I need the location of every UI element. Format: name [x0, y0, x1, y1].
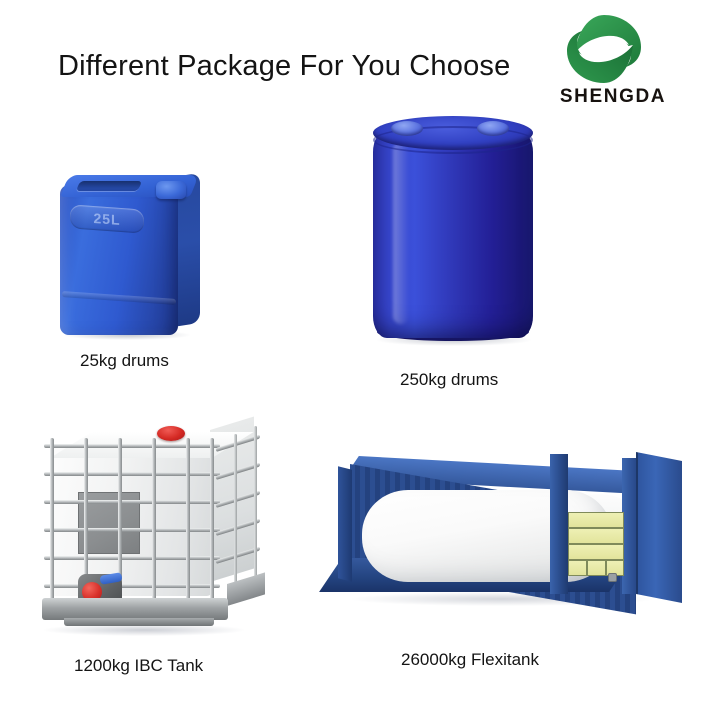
jerrycan-icon: 25L — [52, 167, 204, 342]
bulkhead-board — [568, 528, 624, 544]
ibc-cage-vbar — [50, 438, 54, 604]
ibc-cage-side-vbar — [254, 426, 257, 594]
caption-flexitank: 26000kg Flexitank — [401, 650, 539, 670]
ibc-cage-vbar — [210, 438, 214, 604]
bulkhead-board — [587, 560, 606, 576]
ibc-cage-hbar — [44, 444, 220, 448]
ibc-cage-side-vbar — [234, 434, 237, 602]
ibc-fill-cap — [157, 426, 185, 441]
caption-jerrycan: 25kg drums — [80, 351, 169, 371]
ibc-cage-hbar — [44, 500, 220, 504]
flexitank-bulkhead — [568, 512, 624, 588]
container-door-frame — [550, 454, 568, 594]
drum-highlight — [393, 142, 409, 324]
ibc-cage-vbar — [152, 438, 156, 604]
ibc-cage-hbar — [44, 584, 220, 588]
ibc-pallet-side — [227, 572, 265, 606]
package-options-image: Different Package For You Choose — [0, 0, 713, 713]
leaf-circle-logo-icon — [562, 12, 646, 86]
brand-logo: SHENGDA — [548, 12, 708, 112]
plastic-drum-icon — [363, 108, 543, 353]
ibc-cage-vbar — [186, 438, 190, 604]
ibc-pallet-foot — [64, 618, 214, 626]
drum-bung-left — [391, 121, 423, 136]
jerrycan-cap — [156, 181, 186, 199]
flexitank-container-icon — [336, 450, 686, 630]
ibc-cage-hbar — [44, 528, 220, 532]
caption-ibc-tank: 1200kg IBC Tank — [74, 656, 203, 676]
container-open-door — [636, 452, 682, 603]
ibc-pallet — [42, 598, 228, 620]
container-corner-post — [622, 458, 636, 594]
drum-bung-right — [477, 121, 509, 136]
caption-drum: 250kg drums — [400, 370, 498, 390]
jerrycan-embossed-label: 25L — [70, 204, 144, 233]
bulkhead-board — [568, 512, 624, 528]
flexitank-outlet-valve — [608, 573, 617, 582]
bulkhead-board — [568, 560, 587, 576]
ibc-tank-icon — [24, 422, 270, 640]
bulkhead-board — [568, 544, 624, 560]
page-title: Different Package For You Choose — [58, 50, 510, 83]
container-cut-edge — [338, 466, 352, 581]
ibc-cage-hbar — [44, 556, 220, 560]
jerrycan-handle — [76, 181, 142, 191]
ibc-cage-hbar — [44, 472, 220, 476]
brand-name: SHENGDA — [548, 86, 678, 108]
